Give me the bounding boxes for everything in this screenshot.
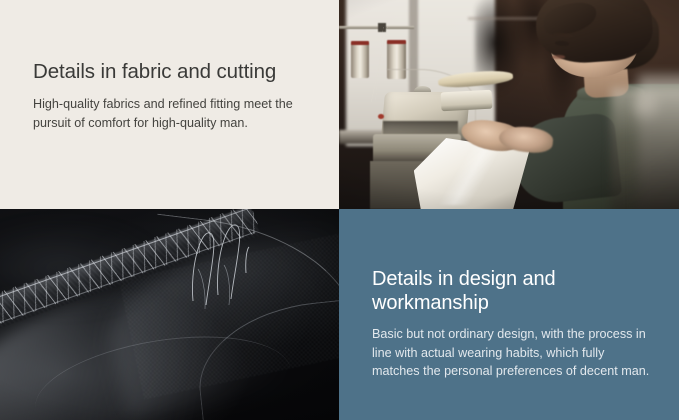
heading-design-and-workmanship: Details in design and workmanship [372,268,667,315]
product-detail-poster: Details in fabric and cutting High-quali… [0,0,679,420]
photo-stitched-seam-macro [0,209,339,420]
body-fabric-and-cutting: High-quality fabrics and refined fitting… [33,95,301,132]
panel-fabric-and-cutting-content: Details in fabric and cutting High-quali… [33,60,321,132]
body-design-and-workmanship: Basic but not ordinary design, with the … [372,325,654,381]
photo-seamstress-sewing-machine [339,0,679,209]
panel-fabric-and-cutting: Details in fabric and cutting High-quali… [0,0,339,209]
photo-vignette [0,209,339,420]
photo-vignette [339,0,679,209]
panel-design-and-workmanship: Details in design and workmanship Basic … [339,209,679,420]
heading-fabric-and-cutting: Details in fabric and cutting [33,60,321,84]
panel-design-and-workmanship-content: Details in design and workmanship Basic … [372,268,667,381]
